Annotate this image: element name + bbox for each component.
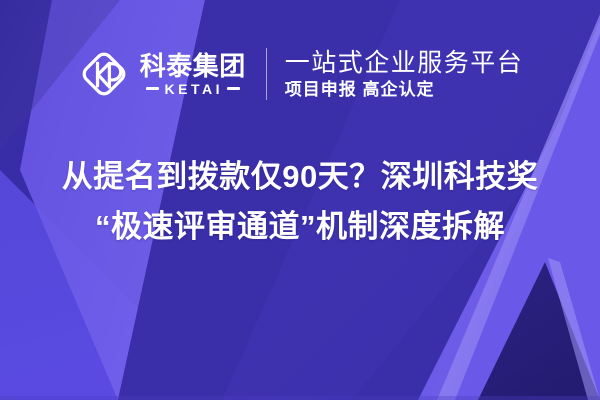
tagline-primary: 一站式企业服务平台 [285,49,524,77]
brand-wordmark: 科泰集团 KETAI [140,52,246,95]
headline-line-2: “极速评审通道”机制深度拆解 [0,202,600,252]
dash-left-icon [146,87,159,90]
brand-header: 科泰集团 KETAI 一站式企业服务平台 项目申报 高企认定 [0,38,600,110]
banner-content: 科泰集团 KETAI 一站式企业服务平台 项目申报 高企认定 从提名到拨款仅90… [0,0,600,400]
headline-line-1: 从提名到拨款仅90天？深圳科技奖 [0,152,600,202]
promo-banner: 科泰集团 KETAI 一站式企业服务平台 项目申报 高企认定 从提名到拨款仅90… [0,0,600,400]
brand-logo: 科泰集团 KETAI [77,47,246,101]
headline: 从提名到拨款仅90天？深圳科技奖 “极速评审通道”机制深度拆解 [0,152,600,252]
brand-name-en-row: KETAI [140,82,246,96]
tagline-secondary: 项目申报 高企认定 [285,80,524,99]
brand-name-cn: 科泰集团 [140,52,246,80]
tagline: 一站式企业服务平台 项目申报 高企认定 [285,49,524,99]
brand-name-en: KETAI [163,82,223,96]
ketai-diamond-kp-monogram-icon [77,47,131,101]
dash-right-icon [227,87,240,90]
vertical-divider [266,48,267,100]
